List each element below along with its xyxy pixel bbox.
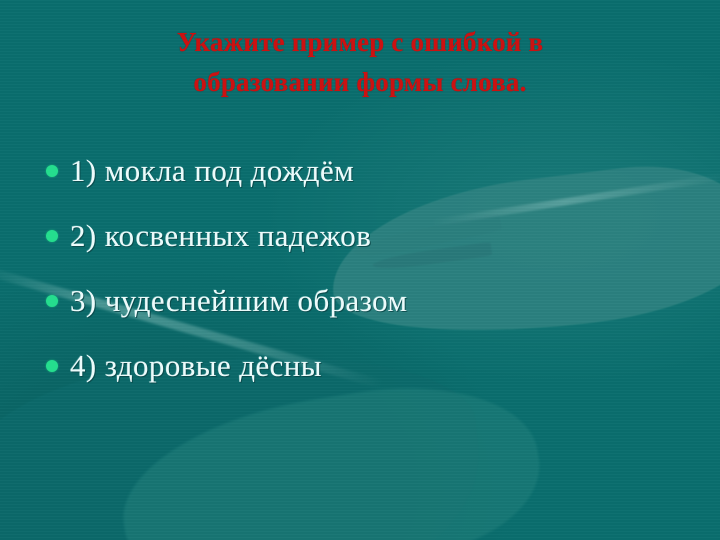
answer-option-1[interactable]: 1) мокла под дождём bbox=[0, 138, 720, 203]
answer-option-label: 3) чудеснейшим образом bbox=[70, 282, 407, 320]
slide-title: Укажите пример с ошибкой в образовании ф… bbox=[40, 22, 680, 102]
bullet-dot-icon bbox=[46, 295, 58, 307]
answer-option-3[interactable]: 3) чудеснейшим образом bbox=[0, 268, 720, 333]
title-line-2: образовании формы слова. bbox=[40, 62, 680, 102]
presentation-slide: Укажите пример с ошибкой в образовании ф… bbox=[0, 0, 720, 540]
title-line-1: Укажите пример с ошибкой в bbox=[40, 22, 680, 62]
answer-option-4[interactable]: 4) здоровые дёсны bbox=[0, 333, 720, 398]
bullet-dot-icon bbox=[46, 360, 58, 372]
answer-option-label: 1) мокла под дождём bbox=[70, 152, 354, 190]
answer-option-2[interactable]: 2) косвенных падежов bbox=[0, 203, 720, 268]
slide-content: Укажите пример с ошибкой в образовании ф… bbox=[0, 0, 720, 540]
answer-option-label: 4) здоровые дёсны bbox=[70, 347, 322, 385]
answer-options-list: 1) мокла под дождём 2) косвенных падежов… bbox=[0, 138, 720, 398]
answer-option-label: 2) косвенных падежов bbox=[70, 217, 371, 255]
bullet-dot-icon bbox=[46, 165, 58, 177]
bullet-dot-icon bbox=[46, 230, 58, 242]
